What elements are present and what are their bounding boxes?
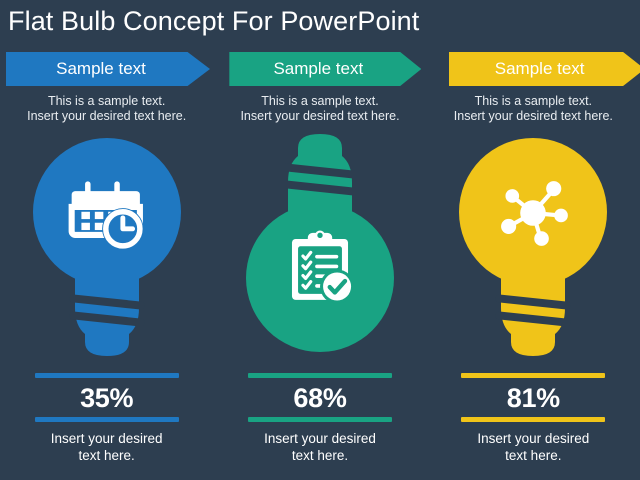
percent-value-3: 81% <box>427 382 640 414</box>
lightbulb-shape-3[interactable] <box>453 130 613 360</box>
bulb-area-2 <box>213 130 426 370</box>
percent-rule-bottom-1 <box>35 417 179 422</box>
caption-3-line2: text here. <box>427 447 640 464</box>
description-1-line2: Insert your desired text here. <box>0 109 213 124</box>
lightbulb-shape-1[interactable] <box>27 130 187 360</box>
caption-1-line1: Insert your desired <box>0 430 213 447</box>
banner-label-1: Sample text <box>56 59 160 79</box>
percent-rule-top-3 <box>461 373 605 378</box>
caption-1-line2: text here. <box>0 447 213 464</box>
caption-2: Insert your desired text here. <box>213 430 426 464</box>
percent-block-2: 68% Insert your desired text here. <box>213 373 426 464</box>
banner-label-3: Sample text <box>495 59 599 79</box>
description-3-line2: Insert your desired text here. <box>427 109 640 124</box>
banner-wrap-1: Sample text <box>0 52 213 86</box>
caption-2-line1: Insert your desired <box>213 430 426 447</box>
caption-3: Insert your desired text here. <box>427 430 640 464</box>
caption-1: Insert your desired text here. <box>0 430 213 464</box>
caption-3-line1: Insert your desired <box>427 430 640 447</box>
column-group: Sample text This is a sample text. Inser… <box>0 48 640 480</box>
percent-rule-top-2 <box>248 373 392 378</box>
banner-wrap-3: Sample text <box>427 52 640 86</box>
percent-value-2: 68% <box>213 382 426 414</box>
description-2-line2: Insert your desired text here. <box>213 109 426 124</box>
description-2-line1: This is a sample text. <box>213 94 426 109</box>
percent-value-1: 35% <box>0 382 213 414</box>
percent-rule-top-1 <box>35 373 179 378</box>
banner-arrow-3[interactable]: Sample text <box>449 52 640 86</box>
bulb-area-3 <box>427 130 640 370</box>
banner-arrow-2[interactable]: Sample text <box>229 52 421 86</box>
description-1-line1: This is a sample text. <box>0 94 213 109</box>
description-2: This is a sample text. Insert your desir… <box>213 94 426 124</box>
percent-block-1: 35% Insert your desired text here. <box>0 373 213 464</box>
page-title: Flat Bulb Concept For PowerPoint <box>8 6 419 37</box>
banner-arrow-1[interactable]: Sample text <box>6 52 210 86</box>
column-2: Sample text This is a sample text. Inser… <box>213 48 426 480</box>
bulb-area-1 <box>0 130 213 370</box>
slide-canvas: Flat Bulb Concept For PowerPoint Sample … <box>0 0 640 480</box>
description-1: This is a sample text. Insert your desir… <box>0 94 213 124</box>
network-hub-icon <box>494 174 572 252</box>
clipboard-check-icon <box>281 228 359 306</box>
percent-rule-bottom-3 <box>461 417 605 422</box>
description-3-line1: This is a sample text. <box>427 94 640 109</box>
column-1: Sample text This is a sample text. Inser… <box>0 48 213 480</box>
percent-rule-bottom-2 <box>248 417 392 422</box>
description-3: This is a sample text. Insert your desir… <box>427 94 640 124</box>
column-3: Sample text This is a sample text. Inser… <box>427 48 640 480</box>
banner-wrap-2: Sample text <box>213 52 426 86</box>
percent-block-3: 81% Insert your desired text here. <box>427 373 640 464</box>
banner-label-2: Sample text <box>273 59 377 79</box>
caption-2-line2: text here. <box>213 447 426 464</box>
calendar-clock-icon <box>68 174 146 252</box>
